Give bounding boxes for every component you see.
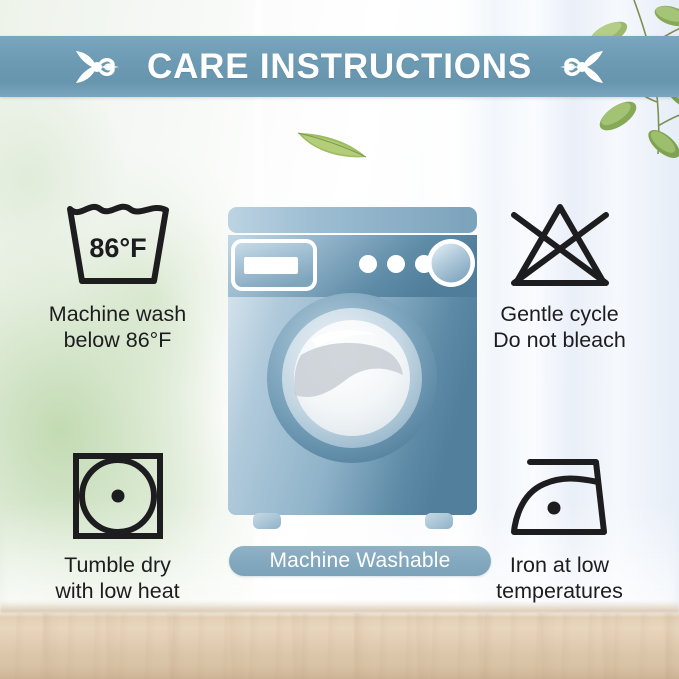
banner-header: CARE INSTRUCTIONS bbox=[0, 36, 679, 97]
washing-machine-illustration bbox=[225, 205, 480, 535]
wash-tub-icon: 86°F bbox=[62, 196, 174, 294]
do-not-bleach-triangle-icon bbox=[504, 196, 616, 294]
machine-washable-badge: Machine Washable bbox=[229, 546, 491, 576]
iron-low-temp-icon bbox=[504, 447, 616, 545]
page-title: CARE INSTRUCTIONS bbox=[147, 49, 532, 84]
machine-feet bbox=[253, 513, 453, 529]
washer-door bbox=[267, 293, 437, 463]
control-dial bbox=[427, 239, 475, 287]
care-item-iron: Iron at low temperatures bbox=[452, 447, 667, 604]
care-item-do-not-bleach: Gentle cycle Do not bleach bbox=[452, 196, 667, 353]
tumble-dry-low-icon bbox=[68, 447, 168, 545]
care-item-machine-wash: 86°F Machine wash below 86°F bbox=[10, 196, 225, 353]
wash-temperature-text: 86°F bbox=[89, 233, 146, 263]
control-buttons bbox=[359, 255, 433, 273]
care-label-do-not-bleach: Gentle cycle Do not bleach bbox=[493, 301, 626, 353]
care-label-machine-wash: Machine wash below 86°F bbox=[49, 301, 186, 353]
detergent-drawer bbox=[233, 241, 315, 289]
fleur-de-lis-ornament-left bbox=[67, 46, 121, 88]
care-label-tumble-dry: Tumble dry with low heat bbox=[55, 552, 179, 604]
fleur-de-lis-ornament-right bbox=[558, 46, 612, 88]
care-instructions-infographic: CARE INSTRUCTIONS 86°F Machine wash belo… bbox=[0, 0, 679, 679]
wooden-table-surface bbox=[0, 613, 679, 679]
care-item-tumble-dry: Tumble dry with low heat bbox=[10, 447, 225, 604]
care-label-iron: Iron at low temperatures bbox=[496, 552, 623, 604]
